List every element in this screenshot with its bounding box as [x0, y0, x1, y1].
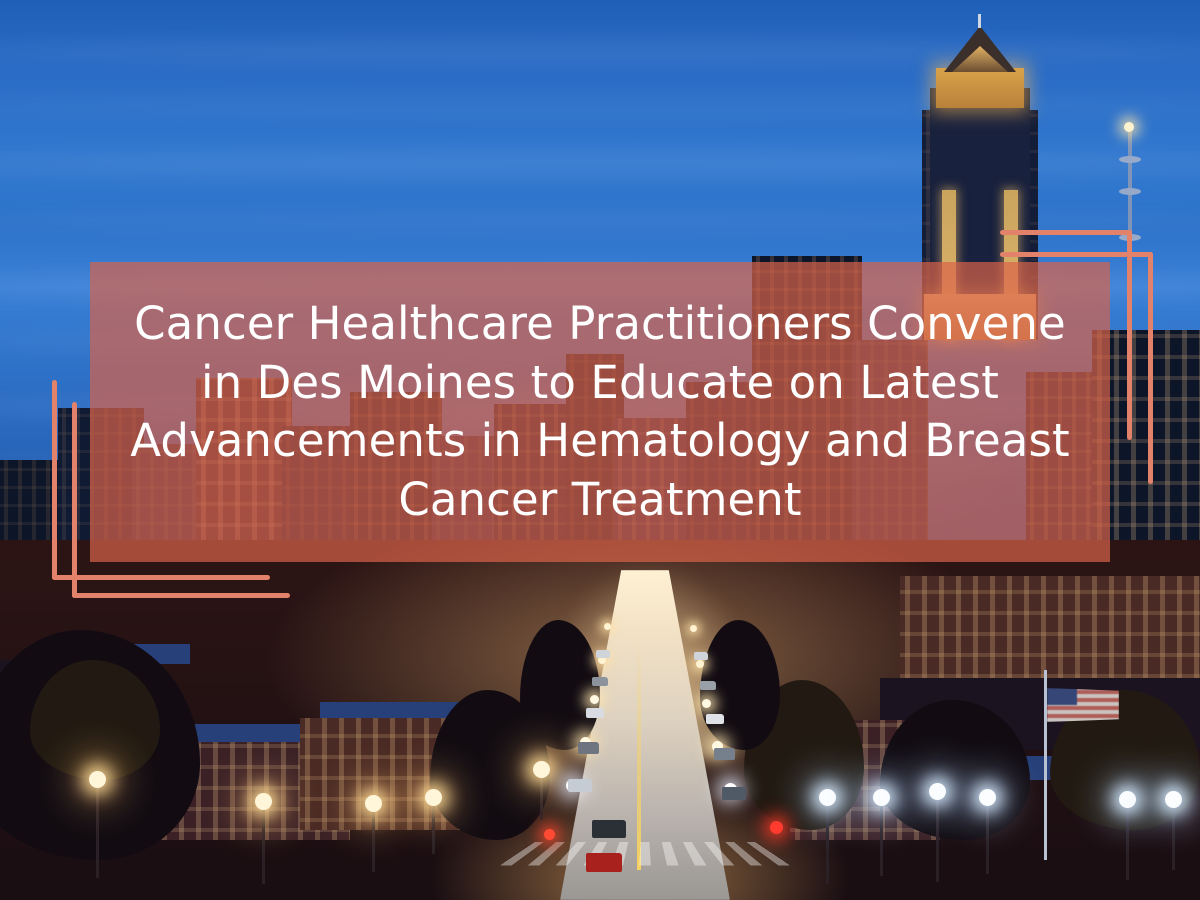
car [706, 714, 724, 724]
street-lamp [880, 804, 883, 876]
page-title: Cancer Healthcare Practitioners Convene … [116, 295, 1084, 529]
lane-marking [637, 640, 641, 870]
car [592, 677, 608, 686]
street-lamp [936, 798, 939, 882]
traffic-signal-red [544, 829, 555, 840]
street-lamp [986, 804, 989, 874]
traffic-signal-red [770, 821, 783, 834]
street-lamp [96, 786, 99, 878]
antenna-dish [1119, 234, 1141, 241]
tower-spire [978, 14, 981, 28]
antenna-light [1124, 122, 1134, 132]
flag-pole [1044, 670, 1047, 860]
antenna-mast [1128, 130, 1132, 310]
street-lamp [1172, 806, 1175, 870]
building-block [900, 576, 1200, 686]
car [578, 742, 599, 754]
crosswalk [500, 842, 790, 865]
street-light [696, 660, 704, 668]
car [568, 779, 592, 792]
car [592, 820, 626, 838]
car [700, 681, 716, 690]
car [586, 853, 622, 872]
tower-crown [936, 68, 1024, 108]
car [586, 708, 604, 718]
street-lamp [372, 810, 375, 872]
antenna-dish [1119, 156, 1141, 163]
street-lamp [1126, 806, 1129, 880]
street-lamp [262, 808, 265, 884]
car [596, 650, 610, 658]
street-light [690, 625, 697, 632]
street-lamp [540, 776, 543, 820]
american-flag [1047, 688, 1119, 722]
street-lamp [432, 804, 435, 854]
car [694, 652, 708, 660]
city-foreground [0, 540, 1200, 900]
antenna-dish [1119, 188, 1141, 195]
street-lamp [826, 804, 829, 884]
street-light [702, 699, 711, 708]
car [714, 748, 735, 760]
headline-container: Cancer Healthcare Practitioners Convene … [90, 262, 1110, 562]
banner-image: Cancer Healthcare Practitioners Convene … [0, 0, 1200, 900]
car [722, 787, 746, 800]
street-light [604, 623, 611, 630]
street-light [590, 695, 599, 704]
